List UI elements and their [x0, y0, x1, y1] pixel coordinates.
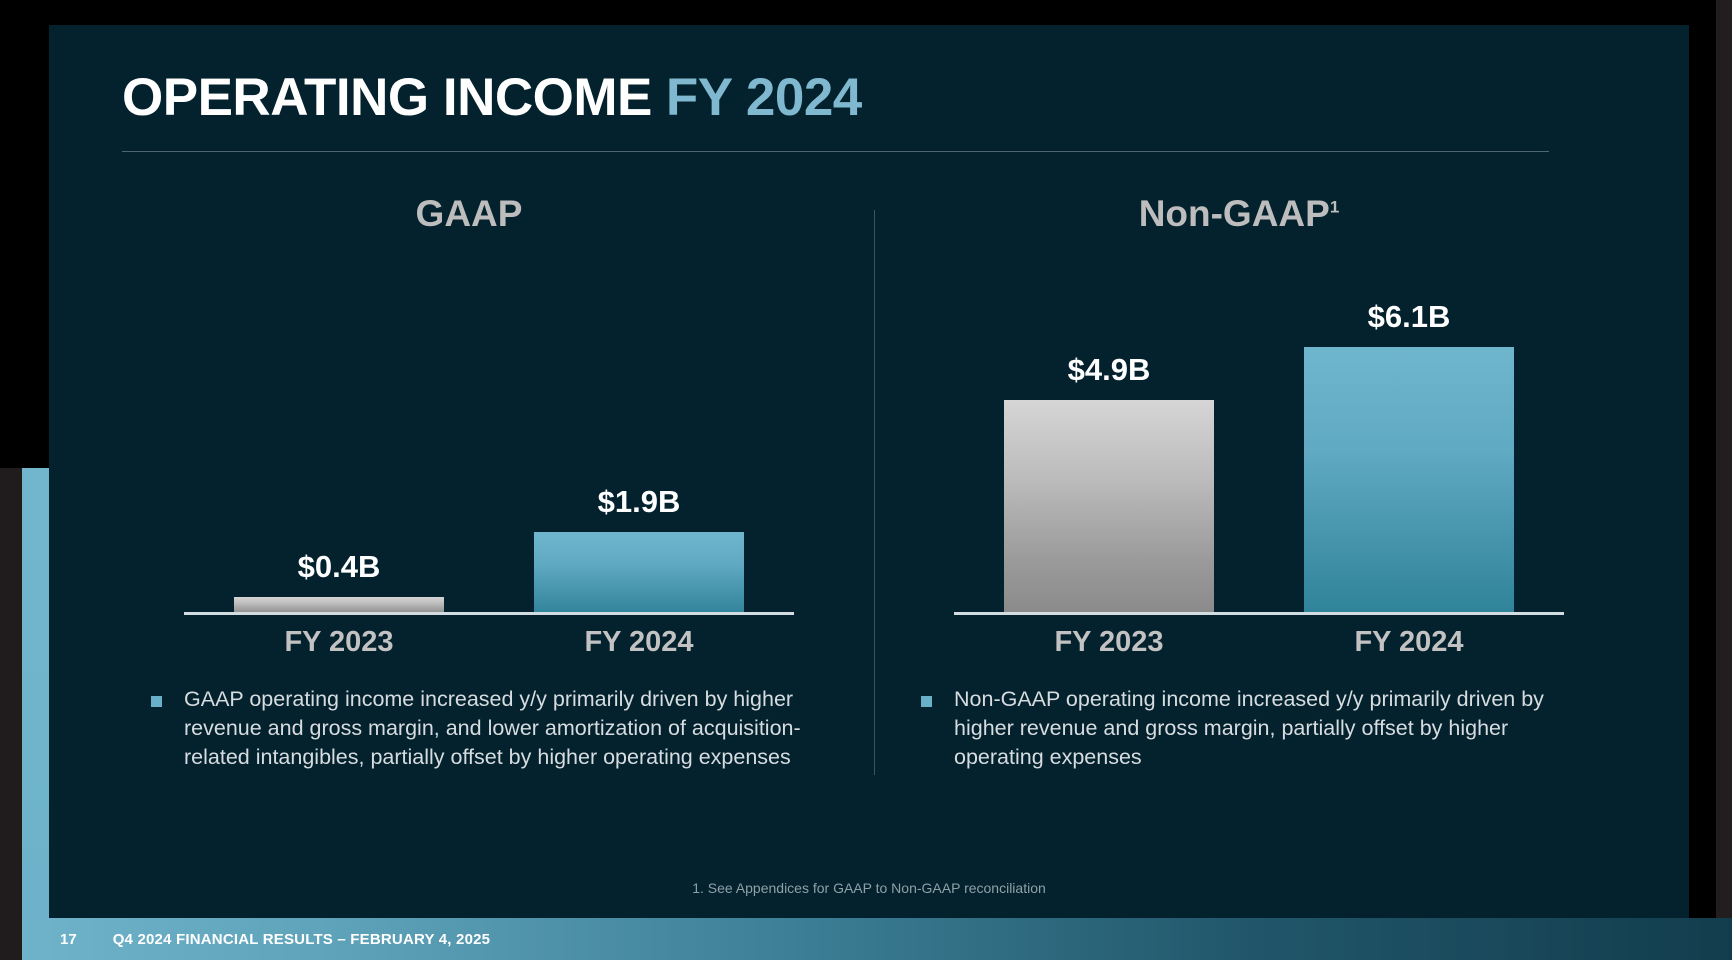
bar-slot-nongaap-fy2024: $6.1B	[1304, 245, 1514, 615]
footer-deck-title: Q4 2024 FINANCIAL RESULTS – FEBRUARY 4, …	[113, 931, 491, 948]
bullet-text-nongaap: Non-GAAP operating income increased y/y …	[954, 685, 1589, 772]
bar-slot-gaap-fy2023: $0.4B	[234, 245, 444, 615]
bar-slot-gaap-fy2024: $1.9B	[534, 245, 744, 615]
right-edge-dark-band	[1716, 0, 1732, 960]
bar-value-gaap-fy2024: $1.9B	[598, 484, 681, 520]
bar-nongaap-fy2023[interactable]	[1004, 400, 1214, 615]
left-edge-dark-band	[0, 468, 22, 960]
panel-gaap: GAAP $0.4B $1.9B FY 2023 FY 2024	[89, 185, 849, 805]
square-bullet-icon	[151, 696, 162, 707]
footnote: 1. See Appendices for GAAP to Non-GAAP r…	[49, 880, 1689, 896]
panel-gaap-header: GAAP	[89, 193, 849, 235]
chart-gaap-baseline	[184, 612, 794, 615]
panel-nongaap-header: Non-GAAP1	[859, 193, 1619, 235]
chart-gaap: $0.4B $1.9B FY 2023 FY 2024	[89, 245, 849, 665]
bar-value-nongaap-fy2023: $4.9B	[1068, 352, 1151, 388]
category-label-gaap-fy2024: FY 2024	[534, 626, 744, 659]
bar-value-nongaap-fy2024: $6.1B	[1368, 299, 1451, 335]
chart-gaap-plot: $0.4B $1.9B	[189, 245, 789, 615]
page-title-main: OPERATING INCOME	[122, 68, 652, 127]
bar-slot-nongaap-fy2023: $4.9B	[1004, 245, 1214, 615]
category-label-gaap-fy2023: FY 2023	[234, 626, 444, 659]
slide-body: OPERATING INCOMEFY 2024 GAAP $0.4B $1.9B	[49, 25, 1689, 925]
slide-canvas: OPERATING INCOMEFY 2024 GAAP $0.4B $1.9B	[0, 0, 1732, 960]
category-label-nongaap-fy2023: FY 2023	[1004, 626, 1214, 659]
bullet-item-gaap: GAAP operating income increased y/y prim…	[151, 685, 819, 772]
bar-gaap-fy2024[interactable]	[534, 532, 744, 615]
footer-bar: 17 Q4 2024 FINANCIAL RESULTS – FEBRUARY …	[22, 918, 1732, 960]
title-divider-rule	[122, 151, 1549, 152]
bar-nongaap-fy2024[interactable]	[1304, 347, 1514, 615]
bullets-gaap: GAAP operating income increased y/y prim…	[151, 685, 819, 772]
panel-nongaap-header-label: Non-GAAP	[1139, 193, 1330, 234]
footer-page-number: 17	[60, 931, 77, 948]
bullet-item-nongaap: Non-GAAP operating income increased y/y …	[921, 685, 1589, 772]
panel-nongaap-header-superscript: 1	[1330, 198, 1339, 217]
bar-value-gaap-fy2023: $0.4B	[298, 549, 381, 585]
category-label-nongaap-fy2024: FY 2024	[1304, 626, 1514, 659]
bullets-nongaap: Non-GAAP operating income increased y/y …	[921, 685, 1589, 772]
page-title-accent: FY 2024	[666, 68, 862, 127]
chart-nongaap-plot: $4.9B $6.1B	[959, 245, 1559, 615]
chart-nongaap-baseline	[954, 612, 1564, 615]
chart-nongaap-category-axis: FY 2023 FY 2024	[959, 619, 1559, 665]
square-bullet-icon	[921, 696, 932, 707]
chart-nongaap: $4.9B $6.1B FY 2023 FY 2024	[859, 245, 1619, 665]
bullet-text-gaap: GAAP operating income increased y/y prim…	[184, 685, 819, 772]
chart-gaap-category-axis: FY 2023 FY 2024	[189, 619, 789, 665]
panel-nongaap: Non-GAAP1 $4.9B $6.1B FY 2023 FY 2024	[859, 185, 1619, 805]
page-title: OPERATING INCOMEFY 2024	[122, 67, 862, 128]
